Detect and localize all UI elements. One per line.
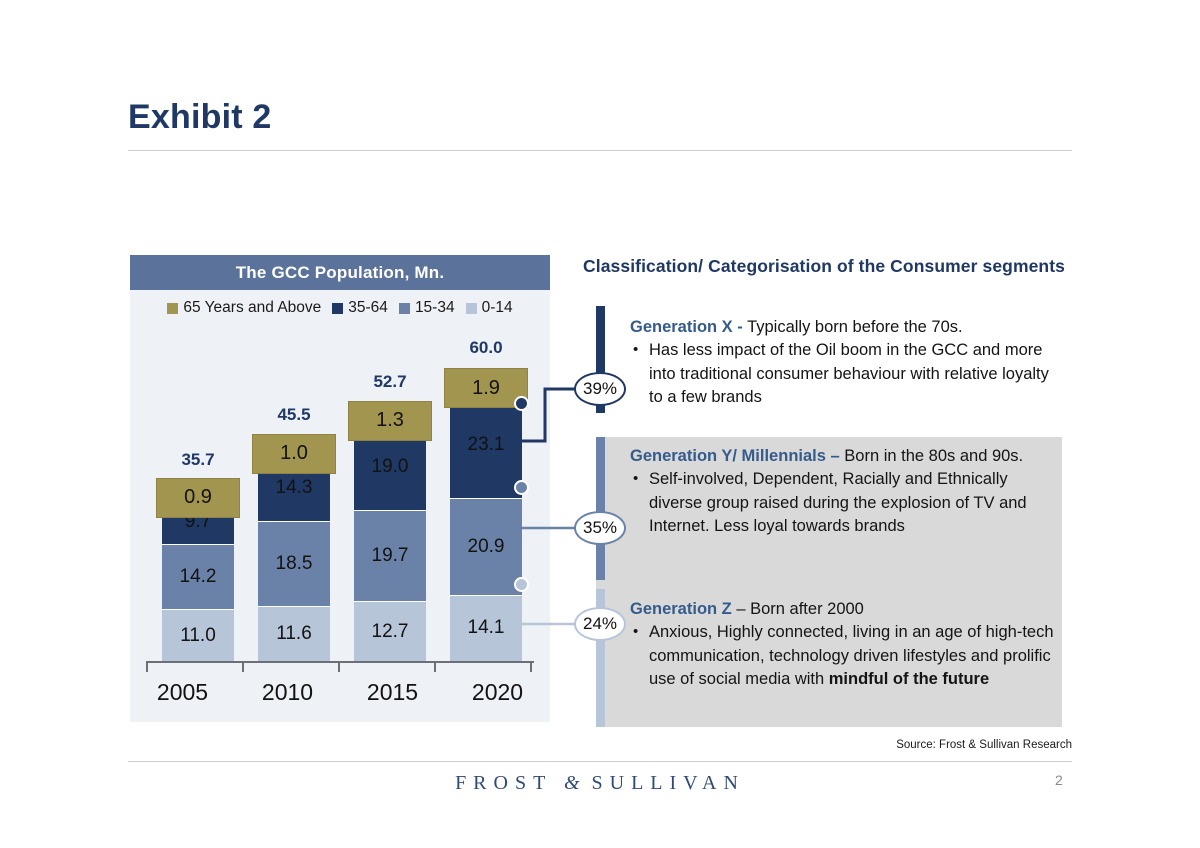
- bar-value-2015-15-34: 19.7: [354, 545, 426, 567]
- generation-x-heading: Generation X - Typically born before the…: [630, 316, 1062, 339]
- accent-bar-generation-y: [596, 437, 605, 580]
- bar-column-2005: 9.714.211.0: [162, 496, 234, 661]
- generation-z-block: Generation Z – Born after 2000 Anxious, …: [630, 598, 1062, 692]
- generation-x-heading-rest: Typically born before the 70s.: [743, 318, 963, 336]
- axis-tick-1: [242, 661, 244, 672]
- x-label-2015: 2015: [340, 679, 445, 713]
- generation-z-bullet-tail: mindful of the future: [829, 670, 989, 688]
- bar-total-2010: 45.5: [244, 405, 344, 425]
- generation-z-heading-rest: – Born after 2000: [732, 600, 864, 618]
- bar-column-2015: 19.019.712.7: [354, 418, 426, 661]
- logo-ampersand: &: [564, 772, 580, 794]
- bar-value-2005-0-14: 11.0: [162, 625, 234, 647]
- marker-dot-39: [514, 396, 529, 411]
- chart-legend: 65 Years and Above 35-64 15-34 0-14: [130, 295, 550, 321]
- legend-item-15-34: 15-34: [399, 299, 455, 317]
- right-panel-title: Classification/ Categorisation of the Co…: [583, 256, 1123, 277]
- bar-column-2010: 14.318.511.6: [258, 451, 330, 661]
- axis-tick-4: [530, 661, 532, 672]
- legend-label-15-34: 15-34: [415, 299, 455, 317]
- bar-column-2020: 23.120.914.1: [450, 384, 522, 661]
- x-label-2005: 2005: [130, 679, 235, 713]
- callout-39-percent-label: 39%: [583, 379, 617, 399]
- callout-39-percent[interactable]: 39%: [574, 372, 626, 406]
- generation-y-heading-rest: Born in the 80s and 90s.: [840, 447, 1023, 465]
- frost-sullivan-logo: FROST & SULLIVAN: [0, 772, 1200, 795]
- generation-y-heading-bold: Generation Y/ Millennials –: [630, 447, 840, 465]
- generation-z-heading: Generation Z – Born after 2000: [630, 598, 1062, 621]
- chart-panel: The GCC Population, Mn. 65 Years and Abo…: [130, 255, 550, 722]
- bar-segment-2005-0-14: 11.0: [162, 610, 234, 661]
- slide: Exhibit 2 The GCC Population, Mn. 65 Yea…: [0, 0, 1200, 848]
- bar-value-2020-35-64: 23.1: [450, 434, 522, 456]
- plot-area: 9.714.211.00.935.714.318.511.61.045.519.…: [130, 331, 550, 661]
- callout-35-percent-label: 35%: [583, 518, 617, 538]
- legend-swatch-0-14: [466, 303, 477, 314]
- x-label-2010: 2010: [235, 679, 340, 713]
- legend-swatch-15-34: [399, 303, 410, 314]
- legend-item-35-64: 35-64: [332, 299, 388, 317]
- bar-value-2010-35-64: 14.3: [258, 477, 330, 499]
- callout-35-percent[interactable]: 35%: [574, 511, 626, 545]
- page-number: 2: [1055, 772, 1063, 788]
- callout-24-percent[interactable]: 24%: [574, 607, 626, 641]
- legend-label-65-plus: 65 Years and Above: [183, 299, 321, 317]
- axis-tick-0: [146, 661, 148, 672]
- x-axis-labels: 2005 2010 2015 2020: [130, 679, 550, 713]
- bar-segment-2005-15-34: 14.2: [162, 545, 234, 611]
- axis-tick-3: [434, 661, 436, 672]
- marker-dot-24: [514, 577, 529, 592]
- bar-value-2015-35-64: 19.0: [354, 456, 426, 478]
- legend-swatch-65-plus: [167, 303, 178, 314]
- bar-value-2010-15-34: 18.5: [258, 553, 330, 575]
- page-title: Exhibit 2: [128, 98, 272, 137]
- bar-segment-2015-0-14: 12.7: [354, 602, 426, 661]
- bar-segment-2020-15-34: 20.9: [450, 499, 522, 596]
- legend-item-65-plus: 65 Years and Above: [167, 299, 321, 317]
- axis-line: [146, 661, 534, 663]
- legend-swatch-35-64: [332, 303, 343, 314]
- bar-segment-2010-0-14: 11.6: [258, 607, 330, 661]
- bar-value-2010-65-years-and-above: 1.0: [252, 434, 336, 474]
- list-item: Has less impact of the Oil boom in the G…: [630, 339, 1062, 410]
- legend-label-35-64: 35-64: [348, 299, 388, 317]
- list-item: Self-involved, Dependent, Racially and E…: [630, 468, 1062, 539]
- bar-value-2005-65-years-and-above: 0.9: [156, 478, 240, 518]
- bar-segment-2020-0-14: 14.1: [450, 596, 522, 661]
- generation-z-bullets: Anxious, Highly connected, living in an …: [630, 621, 1062, 692]
- bar-total-2005: 35.7: [148, 450, 248, 470]
- bar-segment-2015-15-34: 19.7: [354, 511, 426, 602]
- chart-title: The GCC Population, Mn.: [130, 255, 550, 290]
- bar-segment-2020-35-64: 23.1: [450, 393, 522, 500]
- bar-value-2020-15-34: 20.9: [450, 536, 522, 558]
- generation-x-heading-bold: Generation X -: [630, 318, 743, 336]
- logo-word-frost: FROST: [455, 772, 552, 794]
- bar-total-2020: 60.0: [436, 338, 536, 358]
- bar-value-2010-0-14: 11.6: [258, 623, 330, 645]
- generation-y-bullets: Self-involved, Dependent, Racially and E…: [630, 468, 1062, 539]
- logo-word-sullivan: SULLIVAN: [592, 772, 745, 794]
- axis-tick-2: [338, 661, 340, 672]
- generation-x-block: Generation X - Typically born before the…: [630, 316, 1062, 410]
- bar-segment-2010-15-34: 18.5: [258, 522, 330, 607]
- bar-value-2015-65-years-and-above: 1.3: [348, 401, 432, 441]
- generation-y-block: Generation Y/ Millennials – Born in the …: [630, 445, 1062, 539]
- title-divider: [128, 150, 1072, 151]
- bar-value-2005-15-34: 14.2: [162, 566, 234, 588]
- footer-divider: [128, 761, 1072, 762]
- legend-label-0-14: 0-14: [482, 299, 513, 317]
- marker-dot-35: [514, 480, 529, 495]
- legend-item-0-14: 0-14: [466, 299, 513, 317]
- generation-z-heading-bold: Generation Z: [630, 600, 732, 618]
- bar-value-2020-0-14: 14.1: [450, 617, 522, 639]
- x-axis: [146, 661, 534, 675]
- list-item: Anxious, Highly connected, living in an …: [630, 621, 1062, 692]
- source-note: Source: Frost & Sullivan Research: [896, 739, 1072, 751]
- x-label-2020: 2020: [445, 679, 550, 713]
- bar-total-2015: 52.7: [340, 372, 440, 392]
- generation-x-bullets: Has less impact of the Oil boom in the G…: [630, 339, 1062, 410]
- generation-y-heading: Generation Y/ Millennials – Born in the …: [630, 445, 1062, 468]
- callout-24-percent-label: 24%: [583, 614, 617, 634]
- bar-value-2015-0-14: 12.7: [354, 621, 426, 643]
